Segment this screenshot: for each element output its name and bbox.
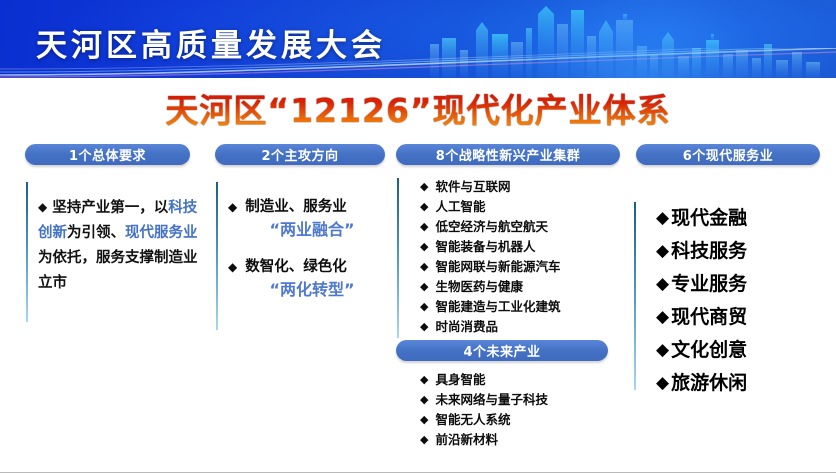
list-item-label: 低空经济与航空航天	[435, 217, 548, 237]
diamond-bullet-icon: ◆	[420, 277, 428, 297]
list-item-label: 时尚消费品	[435, 317, 498, 337]
diamond-bullet-icon: ◆	[656, 301, 669, 334]
diamond-bullet-icon: ◆	[420, 237, 428, 257]
column-header-emerging-clusters: 8个战略性新兴产业集群	[396, 144, 620, 165]
subsection-header-future-industries: 4个未来产业	[396, 340, 608, 361]
column-1-body: ◆ 坚持产业第一，以科技创新为引领、现代服务业为依托，服务支撑制造业立市	[38, 196, 208, 296]
list-item: ◆ 专业服务	[656, 268, 747, 301]
diamond-bullet-icon: ◆	[656, 334, 669, 367]
diamond-bullet-icon: ◆	[420, 430, 428, 450]
direction-line: ◆ 制造业、服务业	[228, 196, 386, 218]
list-item: ◆ 未来网络与量子科技	[420, 390, 548, 410]
diamond-bullet-icon: ◆	[656, 235, 669, 268]
column-header-modern-services: 6个现代服务业	[636, 144, 820, 165]
diamond-bullet-icon: ◆	[228, 196, 237, 218]
column-header-main-directions: 2个主攻方向	[215, 144, 385, 165]
column-1-accent-rule	[26, 182, 28, 322]
list-item: ◆ 智能无人系统	[420, 410, 548, 430]
list-item-label: 专业服务	[671, 268, 747, 301]
header-banner: 天河区高质量发展大会	[0, 0, 836, 78]
diamond-bullet-icon: ◆	[656, 202, 669, 235]
list-item: ◆ 生物医药与健康	[420, 277, 560, 297]
slide-root: 天河区高质量发展大会 天河区“12126”现代化产业体系 1个总体要求 ◆ 坚持…	[0, 0, 836, 473]
diamond-bullet-icon: ◆	[420, 257, 428, 277]
list-item: ◆ 智能装备与机器人	[420, 237, 560, 257]
direction-text: 制造业、服务业	[245, 196, 347, 218]
diamond-bullet-icon: ◆	[420, 370, 428, 390]
page-title: 天河区“12126”现代化产业体系	[0, 84, 836, 132]
list-item: ◆ 现代商贸	[656, 301, 747, 334]
direction-item: ◆ 数智化、绿色化 “两化转型”	[228, 256, 386, 302]
diamond-bullet-icon: ◆	[656, 268, 669, 301]
banner-title: 天河区高质量发展大会	[36, 20, 386, 65]
column-3-accent-rule	[397, 178, 399, 338]
para-seg-3: 为依托，服务支撑制造业立市	[38, 250, 198, 291]
list-item: ◆ 具身智能	[420, 370, 548, 390]
para-highlight-2: 现代服务业	[125, 225, 198, 241]
column-3-body: ◆ 软件与互联网 ◆ 人工智能 ◆ 低空经济与航空航天 ◆ 智能装备与机器人 ◆…	[420, 177, 560, 337]
column-4-body: ◆ 现代金融 ◆ 科技服务 ◆ 专业服务 ◆ 现代商贸 ◆ 文化创意 ◆ 旅游休…	[656, 202, 747, 400]
column-header-overall-requirement: 1个总体要求	[25, 144, 190, 165]
direction-line: ◆ 数智化、绿色化	[228, 256, 386, 278]
list-item: ◆ 文化创意	[656, 334, 747, 367]
list-item-label: 现代商贸	[671, 301, 747, 334]
list-item: ◆ 旅游休闲	[656, 367, 747, 400]
list-item: ◆ 时尚消费品	[420, 317, 560, 337]
list-item-label: 现代金融	[671, 202, 747, 235]
list-item: ◆ 智能网联与新能源汽车	[420, 257, 560, 277]
list-item-label: 旅游休闲	[671, 367, 747, 400]
list-item-label: 软件与互联网	[435, 177, 510, 197]
diamond-bullet-icon: ◆	[420, 197, 428, 217]
list-item: ◆ 低空经济与航空航天	[420, 217, 560, 237]
diamond-bullet-icon: ◆	[656, 367, 669, 400]
list-item: ◆ 科技服务	[656, 235, 747, 268]
para-seg-1: 坚持产业第一，以	[52, 200, 168, 216]
para-seg-2: 为引领、	[67, 225, 125, 241]
list-item-label: 智能网联与新能源汽车	[435, 257, 560, 277]
diamond-bullet-icon: ◆	[420, 177, 428, 197]
column-2-accent-rule	[216, 182, 218, 330]
column-2-body: ◆ 制造业、服务业 “两业融合” ◆ 数智化、绿色化 “两化转型”	[228, 196, 386, 316]
list-item: ◆ 软件与互联网	[420, 177, 560, 197]
list-item: ◆ 人工智能	[420, 197, 560, 217]
direction-quote: “两业融合”	[238, 218, 386, 242]
list-item-label: 未来网络与量子科技	[435, 390, 548, 410]
direction-text: 数智化、绿色化	[245, 256, 347, 278]
list-item: ◆ 前沿新材料	[420, 430, 548, 450]
list-item-label: 科技服务	[671, 235, 747, 268]
diamond-bullet-icon: ◆	[420, 217, 428, 237]
diamond-bullet-icon: ◆	[420, 390, 428, 410]
list-item-label: 人工智能	[435, 197, 485, 217]
list-item: ◆ 智能建造与工业化建筑	[420, 297, 560, 317]
diamond-bullet-icon: ◆	[420, 297, 428, 317]
list-item-label: 智能建造与工业化建筑	[435, 297, 560, 317]
direction-item: ◆ 制造业、服务业 “两业融合”	[228, 196, 386, 242]
diamond-bullet-icon: ◆	[420, 410, 428, 430]
list-item-label: 智能装备与机器人	[435, 237, 535, 257]
list-item: ◆ 现代金融	[656, 202, 747, 235]
diamond-bullet-icon: ◆	[420, 317, 428, 337]
list-item-label: 前沿新材料	[435, 430, 498, 450]
overall-requirement-text: ◆ 坚持产业第一，以科技创新为引领、现代服务业为依托，服务支撑制造业立市	[38, 196, 208, 296]
direction-quote: “两化转型”	[238, 278, 386, 302]
list-item-label: 文化创意	[671, 334, 747, 367]
diamond-bullet-icon: ◆	[228, 256, 237, 278]
list-item-label: 具身智能	[435, 370, 485, 390]
list-item-label: 智能无人系统	[435, 410, 510, 430]
column-4-accent-rule	[634, 202, 636, 390]
subsection-body-future-industries: ◆ 具身智能 ◆ 未来网络与量子科技 ◆ 智能无人系统 ◆ 前沿新材料	[420, 370, 548, 450]
list-item-label: 生物医药与健康	[435, 277, 523, 297]
diamond-bullet-icon: ◆	[38, 195, 47, 220]
